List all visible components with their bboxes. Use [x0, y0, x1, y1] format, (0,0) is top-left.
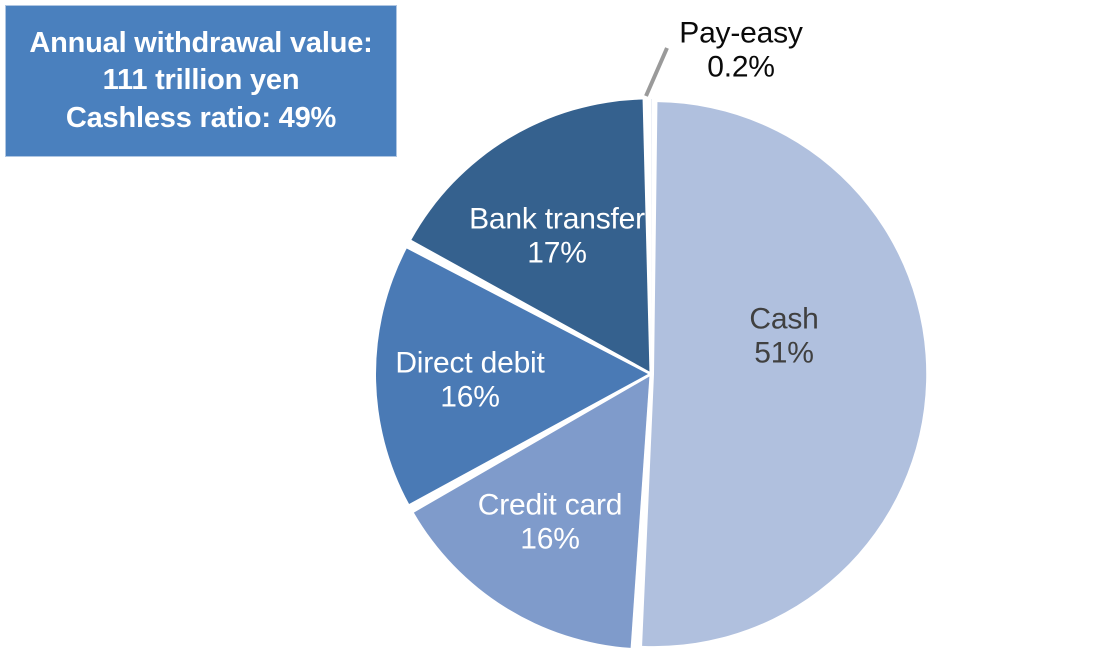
pie-slice-group [376, 99, 926, 648]
pie-slice-cash [642, 102, 926, 646]
pie-chart-svg [0, 0, 1120, 668]
pay-easy-leader-line [646, 48, 667, 96]
pie-chart: Cash 51% Bank transfer 17% Direct debit … [0, 0, 1120, 668]
